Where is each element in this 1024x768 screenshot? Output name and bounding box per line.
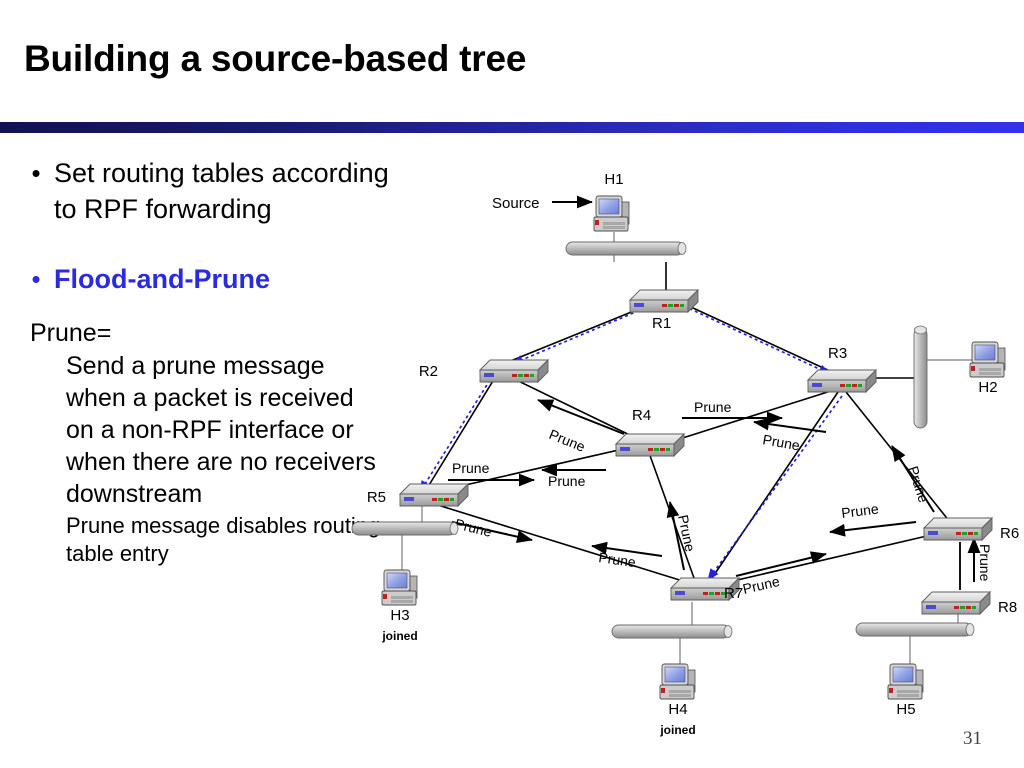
host-node-h2[interactable] [970, 342, 1005, 377]
prune-label: Prune [977, 544, 993, 582]
router-node-r6[interactable] [924, 518, 992, 540]
router-label-r8: R8 [998, 599, 1017, 616]
prune-label: Prune [547, 426, 588, 455]
router-node-r5[interactable] [400, 484, 468, 506]
bullet-marker-icon: • [18, 261, 54, 297]
prune-label: Prune [452, 460, 490, 476]
host-label-h1: H1 [604, 171, 623, 188]
host-node-h4[interactable] [660, 664, 695, 699]
router-label-r6: R6 [1000, 525, 1019, 542]
source-annotation: Source [492, 195, 592, 212]
host-label-h3: H3 [390, 607, 409, 624]
prune-label: Prune [741, 573, 781, 597]
prune-label: Prune [694, 399, 732, 415]
lan-bus-h1 [566, 242, 686, 255]
bullet-text-flood-and-prune: Flood-and-Prune [54, 261, 270, 297]
host-node-h3[interactable] [382, 570, 417, 605]
router-label-r2: R2 [419, 363, 438, 380]
host-node-h1[interactable] [594, 196, 629, 231]
prune-label: Prune [840, 501, 879, 521]
lan-bus-h4 [612, 625, 732, 638]
host-joined-badge-h3: joined [381, 629, 417, 643]
router-label-r1: R1 [652, 315, 671, 332]
lan-bus-h5 [856, 623, 974, 636]
router-node-r1[interactable] [630, 290, 698, 312]
router-bus-lines [422, 262, 960, 632]
router-node-r4[interactable] [616, 434, 684, 456]
prune-label: Prune [761, 431, 801, 453]
bullet-marker-icon: • [18, 155, 54, 191]
host-joined-badge-h4: joined [659, 723, 695, 737]
host-label-h4: H4 [668, 701, 687, 718]
host-label-h2: H2 [978, 379, 997, 396]
source-label: Source [492, 195, 540, 212]
router-label-r5: R5 [367, 489, 386, 506]
router-label-r7: R7 [724, 585, 743, 602]
router-label-r4: R4 [632, 407, 651, 424]
hosts: H1 H2 H3 joi [381, 171, 1005, 737]
router-node-r3[interactable] [808, 370, 876, 392]
lan-bus-h3 [352, 522, 458, 535]
prune-label: Prune [548, 473, 586, 489]
host-node-h5[interactable] [888, 664, 923, 699]
prune-label: Prune [905, 464, 932, 505]
title-divider-rule [0, 122, 1024, 133]
prune-label: Prune [453, 515, 493, 540]
prune-arrows: Prune Prune Prune Prune Prune Prune Prun… [448, 399, 993, 597]
router-node-r8[interactable] [922, 592, 990, 614]
host-label-h5: H5 [896, 701, 915, 718]
router-label-r3: R3 [828, 345, 847, 362]
lan-bus-h2 [914, 326, 927, 428]
page-title: Building a source-based tree [24, 38, 526, 80]
router-node-r2[interactable] [480, 360, 548, 382]
network-topology-diagram: Source Prune Prune Prune Prune Prune Pru… [330, 150, 1024, 750]
page-number: 31 [963, 728, 982, 750]
